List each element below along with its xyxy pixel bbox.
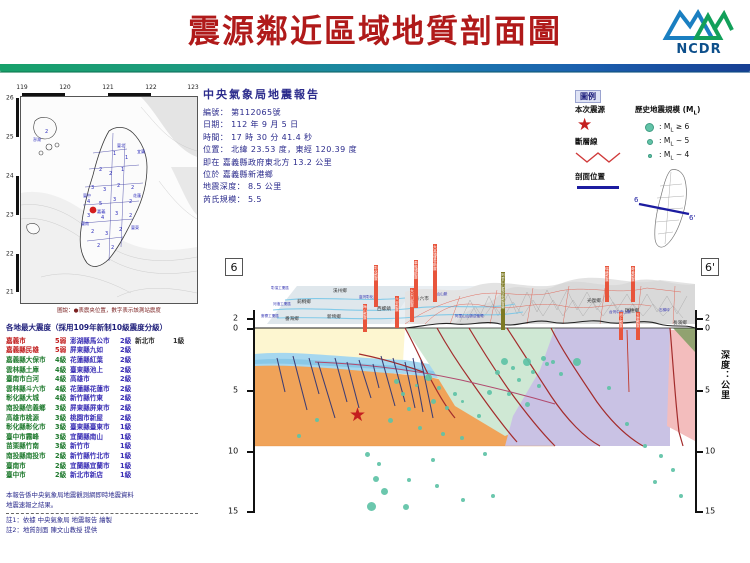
left-column: 119 120 121 122 123 <box>6 84 198 556</box>
lon-tick: 119 <box>16 84 27 91</box>
quake-dot <box>541 356 546 361</box>
quake-dot <box>545 362 549 366</box>
footnote-divider <box>6 513 198 514</box>
table-row: 雲林縣土庫4級臺東縣池上2級 <box>6 364 198 374</box>
intensity-level: 1級 <box>173 335 189 345</box>
svg-text:2: 2 <box>97 243 100 249</box>
table-row: 苗栗縣竹南3級新竹市1級 <box>6 441 198 451</box>
report-line-township: 位於 嘉義縣新港鄉 <box>203 169 403 181</box>
fault-tag-olive: 阿里山山脈逆衝斷層帶 <box>501 272 505 330</box>
svg-text:3: 3 <box>115 211 118 217</box>
intensity-table-title: 各地最大震度（採用109年新制10級震度分級） <box>6 322 198 333</box>
ncdr-logo: NCDR <box>662 8 736 58</box>
quake-dot <box>401 392 405 396</box>
depth-axis-title: 深度：公里 <box>717 350 731 400</box>
table-row: 雲林縣斗六市4級花蓮縣花蓮市2級 <box>6 383 198 393</box>
legend-magnitude-item: : ML ~ 5 <box>645 135 747 149</box>
intensity-level: 3級 <box>55 412 70 422</box>
quake-dot <box>365 452 370 457</box>
quake-dot <box>367 502 376 511</box>
quake-dot <box>373 476 379 482</box>
quake-dot <box>671 468 675 472</box>
intensity-level: 1級 <box>120 440 135 450</box>
svg-text:臺南: 臺南 <box>81 220 89 226</box>
quake-dot <box>495 370 500 375</box>
intensity-level: 3級 <box>55 402 70 412</box>
svg-text:臺中: 臺中 <box>83 192 91 198</box>
legend-title: 圖例 <box>575 90 601 103</box>
svg-text:1: 1 <box>125 155 128 161</box>
svg-text:5: 5 <box>99 201 102 207</box>
depth-tick: 2 <box>233 314 238 323</box>
svg-text:1: 1 <box>121 167 124 173</box>
map-longitude-axis: 119 120 121 122 123 <box>6 84 198 96</box>
depth-tick: 2 <box>705 314 710 323</box>
lon-tick: 123 <box>187 84 198 91</box>
depth-tick: 5 <box>233 386 238 395</box>
quake-dot <box>453 392 457 396</box>
svg-text:3: 3 <box>91 185 94 191</box>
intensity-level: 2級 <box>120 344 135 354</box>
fault-tag: 車籠埔斷層 <box>414 260 418 308</box>
cross-section-plot[interactable]: ★ 番海鄉 新埤鄉 溪州鄉 莿桐鄉 西螺鎮 斗六市 光復鄉 瑞穗鄉 長濱鄉 彰濱… <box>255 266 695 512</box>
intensity-place: 嘉義市 <box>6 335 55 345</box>
quake-dot <box>415 384 418 387</box>
intensity-place: 高雄市桃源 <box>6 412 55 422</box>
depth-tick: 10 <box>705 447 715 456</box>
report-line-date: 日期： 112 年 9 月 5 日 <box>203 119 403 131</box>
intensity-place: 臺中市 <box>6 469 55 479</box>
quake-dot <box>643 444 647 448</box>
quake-dot <box>659 454 663 458</box>
intensity-place: 臺中市霧峰 <box>6 431 55 441</box>
quake-dot <box>531 370 535 374</box>
intensity-table: 嘉義市5弱澎湖縣馬公市2級新北市1級嘉義縣民雄5弱屏東縣九如2級嘉義縣大保市4級… <box>6 335 198 479</box>
quake-dot <box>460 436 464 440</box>
quake-dot <box>551 360 555 364</box>
intensity-place: 澎湖縣馬公市 <box>70 335 120 345</box>
intensity-level: 2級 <box>55 450 70 460</box>
svg-text:臺東: 臺東 <box>131 224 139 230</box>
quake-dot <box>315 418 319 422</box>
quake-dot <box>394 379 399 384</box>
depth-tick: 0 <box>705 324 710 333</box>
intensity-level: 3級 <box>55 440 70 450</box>
quake-dot <box>511 366 515 370</box>
intensity-place: 臺東縣池上 <box>70 364 120 374</box>
quake-dot <box>377 462 381 466</box>
depth-axis-left: 2 0 5 10 15 <box>233 266 255 512</box>
legend-fault-label: 斷層線 <box>575 136 633 147</box>
intensity-place: 苗栗縣竹南 <box>6 440 55 450</box>
table-row: 高雄市桃源3級桃園市新屋2級 <box>6 412 198 422</box>
quake-dot <box>297 434 301 438</box>
intensity-place: 臺南市 <box>6 460 55 470</box>
fault-tag: 大茅埔雙冬斷層 <box>433 244 437 302</box>
page-title: 震源鄰近區域地質剖面圖 <box>0 6 750 52</box>
intensity-level: 2級 <box>55 469 70 479</box>
svg-text:宜蘭: 宜蘭 <box>137 148 145 154</box>
svg-text:2: 2 <box>111 245 114 251</box>
fault-tag: 奇美斷層 <box>631 266 635 302</box>
depth-tick: 15 <box>228 507 238 516</box>
quake-dot <box>607 386 611 390</box>
relief-label: 麥寮工業區 <box>261 314 279 319</box>
intensity-level: 5弱 <box>55 335 70 345</box>
legend-profile-label: 剖面位置 <box>575 171 633 182</box>
intensity-level: 4級 <box>55 373 70 383</box>
svg-text:2: 2 <box>45 129 48 135</box>
lat-tick: 21 <box>6 289 14 296</box>
quake-dot <box>435 484 439 488</box>
intensity-place: 嘉義縣民雄 <box>6 344 55 354</box>
svg-text:3: 3 <box>113 197 116 203</box>
ncdr-mountain-logo-icon <box>662 8 736 42</box>
quake-dot <box>507 392 511 396</box>
intensity-level: 2級 <box>120 364 135 374</box>
intensity-level: 2級 <box>120 402 135 412</box>
footnotes-block: 本報告係中央氣象局地震觀測網即時地震資料 地震速報之結果。 註1：依據 中央氣象… <box>6 491 198 535</box>
svg-text:澎湖: 澎湖 <box>33 136 41 142</box>
intensity-level: 2級 <box>120 354 135 364</box>
intensity-level: 3級 <box>55 431 70 441</box>
intensity-place: 花蓮縣花蓮市 <box>70 383 120 393</box>
quake-dot <box>525 402 530 407</box>
cross-section-graphic <box>255 266 695 512</box>
lon-tick: 122 <box>145 84 156 91</box>
intensity-level: 2級 <box>55 460 70 470</box>
quake-dot <box>573 358 581 366</box>
intensity-place: 雲林縣斗六市 <box>6 383 55 393</box>
legend-magnitude-title: 歷史地震規模 (ML) <box>635 104 747 117</box>
report-line-magnitude: 芮氏規模： 5.5 <box>203 194 403 206</box>
fault-tag: 大尖山斷層 <box>410 288 414 322</box>
svg-text:2: 2 <box>129 213 132 219</box>
map-caption: 圖說：●表震央位置，數字表示該測站震度 <box>20 306 198 314</box>
intensity-place: 彰化縣彰化市 <box>6 421 55 431</box>
legend-magnitude-item: : ML ~ 4 <box>645 149 747 163</box>
blue-line-icon <box>577 186 619 189</box>
report-line-id: 編號： 第112065號 <box>203 107 403 119</box>
earthquake-report-block: 中央氣象局地震報告 編號： 第112065號 日期： 112 年 9 月 5 日… <box>203 86 403 206</box>
intensity-level: 2級 <box>120 392 135 402</box>
svg-text:1: 1 <box>113 151 116 157</box>
small-green-dot-icon <box>648 154 652 158</box>
svg-text:臺北: 臺北 <box>117 142 125 148</box>
fault-tag: 六甲斷層 <box>395 296 399 328</box>
legend-magnitude-text: : ML ≥ 6 <box>659 122 689 134</box>
intensity-level: 1級 <box>120 431 135 441</box>
depth-tick: 5 <box>705 386 710 395</box>
depth-tick: 10 <box>228 447 238 456</box>
intensity-level: 4級 <box>55 392 70 402</box>
lat-tick: 23 <box>6 212 14 219</box>
quake-dot <box>501 358 508 365</box>
town-label: 長濱鄉 <box>673 320 687 326</box>
svg-text:2: 2 <box>109 171 112 177</box>
intensity-level: 2級 <box>120 335 135 345</box>
town-label: 溪州鄉 <box>333 288 347 294</box>
legend-symbols-column: 本次震源 ★ 斷層線 剖面位置 <box>575 104 633 189</box>
quake-dot <box>483 452 487 456</box>
quake-dot <box>445 406 449 410</box>
intensity-level: 5弱 <box>55 344 70 354</box>
inset-label-start: 6 <box>634 196 639 204</box>
svg-text:2: 2 <box>99 167 102 173</box>
table-row: 嘉義市5弱澎湖縣馬公市2級新北市1級 <box>6 335 198 345</box>
intensity-place: 雲林縣土庫 <box>6 364 55 374</box>
red-star-icon: ★ <box>349 406 366 425</box>
quake-dot <box>559 372 563 376</box>
report-line-time: 時間： 17 時 30 分 41.4 秒 <box>203 132 403 144</box>
svg-text:4: 4 <box>101 215 104 221</box>
intensity-place: 桃園市新屋 <box>70 412 120 422</box>
quake-dot <box>407 407 411 411</box>
lon-tick: 120 <box>59 84 70 91</box>
intensity-place: 宜蘭縣宜蘭市 <box>70 460 120 470</box>
legend-magnitude-item: : ML ≥ 6 <box>645 121 747 135</box>
large-green-dot-icon <box>645 123 654 132</box>
intensity-level: 4級 <box>55 364 70 374</box>
red-zigzag-line-icon <box>575 149 633 168</box>
quake-dot <box>517 378 521 382</box>
medium-green-dot-icon <box>647 139 653 145</box>
svg-text:嘉義: 嘉義 <box>97 208 106 215</box>
logo-text: NCDR <box>662 42 736 57</box>
intensity-place: 花蓮縣紅葉 <box>70 354 120 364</box>
quake-dot <box>418 426 422 430</box>
intensity-place: 南投縣信義鄉 <box>6 402 55 412</box>
intensity-level: 2級 <box>120 412 135 422</box>
quake-dot <box>625 422 629 426</box>
svg-text:3: 3 <box>87 213 90 219</box>
quake-dot <box>388 418 393 423</box>
svg-text:花蓮: 花蓮 <box>133 192 141 198</box>
intensity-place: 彰化縣大城 <box>6 392 55 402</box>
intensity-table-block: 各地最大震度（採用109年新制10級震度分級） 嘉義市5弱澎湖縣馬公市2級新北市… <box>6 322 198 479</box>
intensity-level: 2級 <box>120 373 135 383</box>
quake-dot <box>437 386 441 390</box>
depth-tick: 15 <box>705 507 715 516</box>
intensity-map-panel: 119 120 121 122 123 <box>6 84 198 319</box>
intensity-level: 1級 <box>120 450 135 460</box>
lat-tick: 26 <box>6 95 14 102</box>
table-row: 臺南市白河4級高雄市2級 <box>6 373 198 383</box>
relief-label: 石梯坪 <box>659 308 670 313</box>
quake-dot <box>407 478 411 482</box>
quake-dot <box>537 384 541 388</box>
quake-dot <box>491 494 495 498</box>
quake-dot <box>523 358 531 366</box>
legend-magnitude-text: : ML ~ 4 <box>659 150 689 162</box>
report-line-depth: 地震深度： 8.5 公里 <box>203 181 403 193</box>
footnote-summary-2: 地震速報之結果。 <box>6 501 198 511</box>
svg-text:4: 4 <box>87 199 90 205</box>
quake-dot <box>403 504 409 510</box>
relief-label: 阿里山山脈逆衝帶 <box>455 314 484 319</box>
map-graphic: 11 221 3322 4532 3432 232 22 2 臺北宜蘭 臺中花蓮… <box>21 97 197 303</box>
quake-dot <box>487 390 492 395</box>
town-label: 新埤鄉 <box>327 314 341 320</box>
table-row: 嘉義縣大保市4級花蓮縣紅葉2級 <box>6 354 198 364</box>
intensity-place: 宜蘭縣南山 <box>70 431 120 441</box>
quake-dot <box>431 458 435 462</box>
footnote-note-1: 註1：依據 中央氣象局 地震報告 繪製 <box>6 516 198 526</box>
svg-text:3: 3 <box>103 187 106 193</box>
quake-dot <box>477 414 481 418</box>
intensity-level: 4級 <box>55 354 70 364</box>
report-line-distance: 即在 嘉義縣政府東北方 13.2 公里 <box>203 157 403 169</box>
quake-dot <box>653 480 657 484</box>
svg-text:3: 3 <box>105 231 108 237</box>
fault-tag: 彰化斷層 <box>374 265 378 307</box>
intensity-level: 3級 <box>55 421 70 431</box>
inset-map-graphic: 6 6' <box>627 166 717 252</box>
report-line-location: 位置： 北緯 23.53 度，東經 120.39 度 <box>203 144 403 156</box>
relief-label: 彰濱工業區 <box>271 286 289 291</box>
town-label: 莿桐鄉 <box>297 299 311 305</box>
intensity-level: 1級 <box>120 421 135 431</box>
fault-tag: 池上斷層 <box>619 312 623 340</box>
intensity-place: 屏東縣屏東市 <box>70 402 120 412</box>
intensity-place: 臺東縣臺東市 <box>70 421 120 431</box>
quake-dot <box>461 400 464 403</box>
table-row: 南投縣南投市2級新竹縣竹北市1級 <box>6 450 198 460</box>
town-label: 光復鄉 <box>587 298 601 304</box>
lon-tick: 121 <box>102 84 113 91</box>
footnote-summary-1: 本報告係中央氣象局地震觀測網即時地震資料 <box>6 491 198 501</box>
table-row: 嘉義縣民雄5弱屏東縣九如2級 <box>6 345 198 355</box>
legend-magnitude-column: 歷史地震規模 (ML) : ML ≥ 6 : ML ~ 5 : ML ~ 4 <box>635 104 747 163</box>
report-title: 中央氣象局地震報告 <box>203 86 403 102</box>
svg-text:2: 2 <box>91 229 94 235</box>
intensity-level: 4級 <box>55 383 70 393</box>
taiwan-inset-map: 6 6' <box>627 166 717 252</box>
svg-text:2: 2 <box>131 185 134 191</box>
svg-text:2: 2 <box>119 227 122 233</box>
table-row: 彰化縣大城4級新竹縣竹東2級 <box>6 393 198 403</box>
fault-tag: 瑞穗斷層 <box>605 266 609 302</box>
table-row: 彰化縣彰化市3級臺東縣臺東市1級 <box>6 421 198 431</box>
taiwan-intensity-map[interactable]: 11 221 3322 4532 3432 232 22 2 臺北宜蘭 臺中花蓮… <box>20 96 198 304</box>
table-row: 臺中市2級新北市新店1級 <box>6 469 198 479</box>
quake-dot <box>431 399 436 404</box>
table-row: 臺南市2級宜蘭縣宜蘭市1級 <box>6 460 198 470</box>
legend-magnitude-text: : ML ~ 5 <box>659 136 689 148</box>
lat-tick: 24 <box>6 173 14 180</box>
depth-tick: 0 <box>233 324 238 333</box>
quake-dot <box>425 374 432 381</box>
lat-tick: 22 <box>6 251 14 258</box>
header-accent-shadow <box>0 71 750 73</box>
lat-tick: 25 <box>6 134 14 141</box>
red-star-icon: ★ <box>577 116 633 134</box>
intensity-level: 1級 <box>120 469 135 479</box>
legend-epicenter-label: 本次震源 <box>575 104 633 115</box>
intensity-level: 2級 <box>120 383 135 393</box>
intensity-level: 1級 <box>120 460 135 470</box>
intensity-place: 新北市新店 <box>70 469 120 479</box>
table-row: 南投縣信義鄉3級屏東縣屏東市2級 <box>6 402 198 412</box>
town-label: 西螺鎮 <box>377 306 391 312</box>
svg-text:2: 2 <box>117 183 120 189</box>
footnote-note-2: 註2：地質剖面 陳文山教授 提供 <box>6 526 198 536</box>
quake-dot <box>441 432 445 436</box>
intensity-place: 新竹縣竹北市 <box>70 450 120 460</box>
intensity-place: 新北市 <box>135 335 173 345</box>
page-header: 震源鄰近區域地質剖面圖 NCDR <box>0 0 750 72</box>
quake-dot <box>679 494 683 498</box>
town-label: 番海鄉 <box>285 316 299 322</box>
inset-label-end: 6' <box>689 214 695 222</box>
intensity-place: 嘉義縣大保市 <box>6 354 55 364</box>
geologic-cross-section: 6 6' 2 0 5 10 15 <box>225 258 725 520</box>
relief-label: 河洛工業區 <box>273 302 291 307</box>
fault-tag: 梅山斷層 <box>363 304 367 332</box>
depth-axis-right: 2 0 5 10 15 <box>695 266 717 512</box>
intensity-place: 高雄市 <box>70 373 120 383</box>
intensity-place: 新竹縣竹東 <box>70 392 120 402</box>
quake-dot <box>381 488 388 495</box>
quake-dot <box>461 498 465 502</box>
intensity-place: 南投縣南投市 <box>6 450 55 460</box>
legend-block: 圖例 本次震源 ★ 斷層線 剖面位置 歷史地震規模 (ML) : ML ≥ 6 <box>575 84 747 256</box>
fault-tag: 玉里斷層 <box>636 312 640 340</box>
intensity-place: 新竹市 <box>70 440 120 450</box>
intensity-place: 屏東縣九如 <box>70 344 120 354</box>
table-row: 臺中市霧峰3級宜蘭縣南山1級 <box>6 431 198 441</box>
svg-text:2: 2 <box>129 199 132 205</box>
intensity-place: 臺南市白河 <box>6 373 55 383</box>
